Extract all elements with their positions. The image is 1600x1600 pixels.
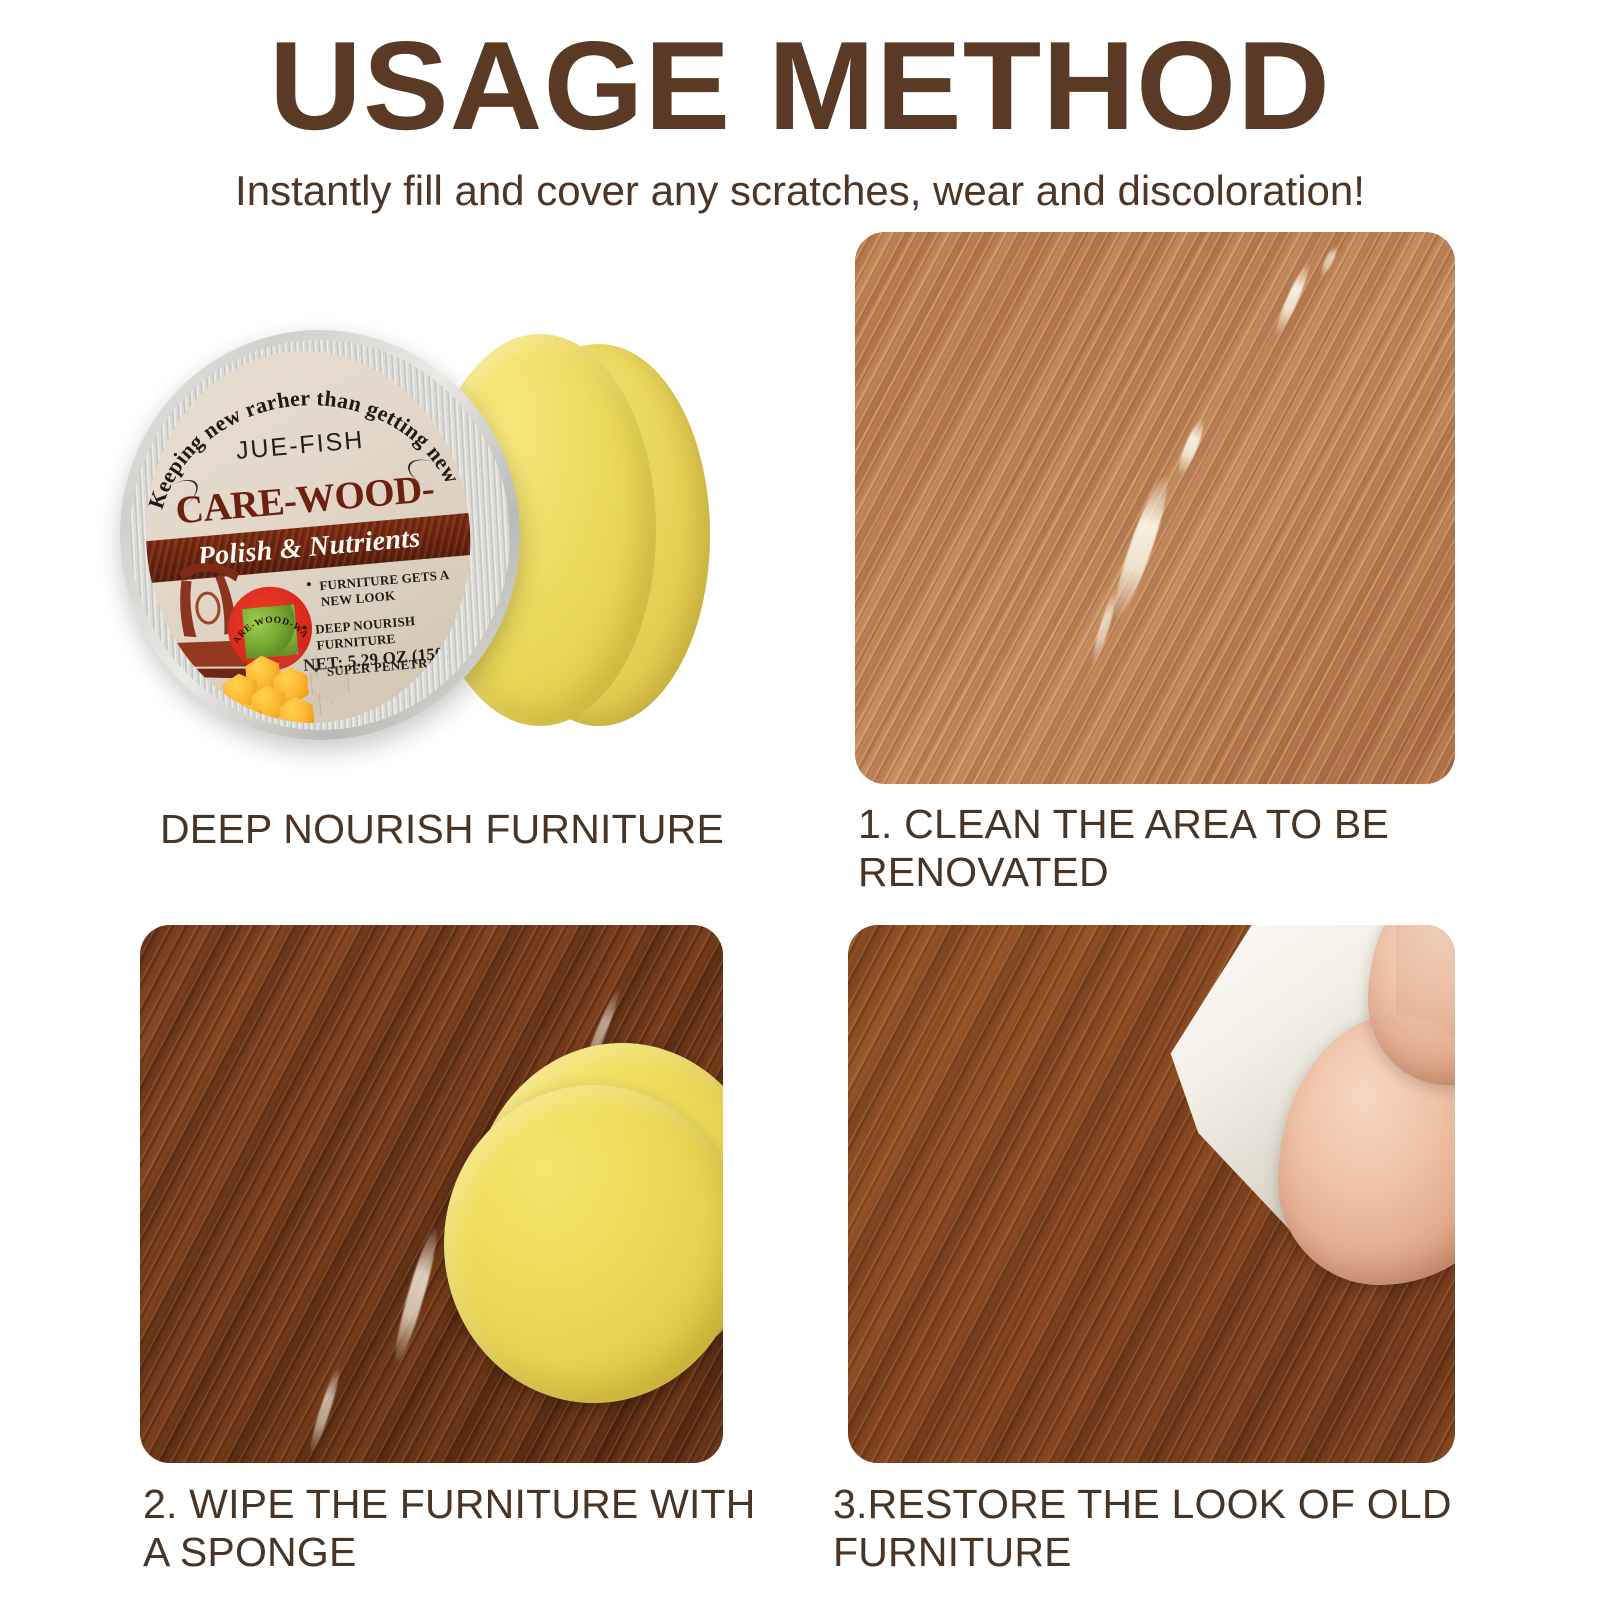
usage-method-infographic: USAGE METHOD Instantly fill and cover an… <box>0 0 1600 1600</box>
svg-text:CARE-WOOD-WAX: CARE-WOOD-WAX <box>224 583 310 647</box>
caption-step-1: 1. CLEAN THE AREA TO BE RENOVATED <box>858 800 1458 897</box>
page-subtitle: Instantly fill and cover any scratches, … <box>0 168 1600 214</box>
product-photo-wax-tin: Keeping new rarher than getting new JUE-… <box>120 320 760 760</box>
page-title: USAGE METHOD <box>0 20 1600 151</box>
badge-label-text: CARE-WOOD-WAX <box>224 583 310 647</box>
caption-step-3: 3.RESTORE THE LOOK OF OLD FURNITURE <box>833 1480 1493 1577</box>
photo-wipe-with-sponge <box>140 925 723 1463</box>
tin-benefit-item: FURNITURE GETS A NEW LOOK <box>306 565 472 611</box>
tin-label-face: Keeping new rarher than getting new JUE-… <box>131 338 486 737</box>
caption-step-2: 2. WIPE THE FURNITURE WITH A SPONGE <box>143 1480 783 1577</box>
photo-restore-look <box>848 925 1455 1463</box>
photo-clean-area <box>855 232 1455 784</box>
caption-deep-nourish: DEEP NOURISH FURNITURE <box>160 805 860 853</box>
